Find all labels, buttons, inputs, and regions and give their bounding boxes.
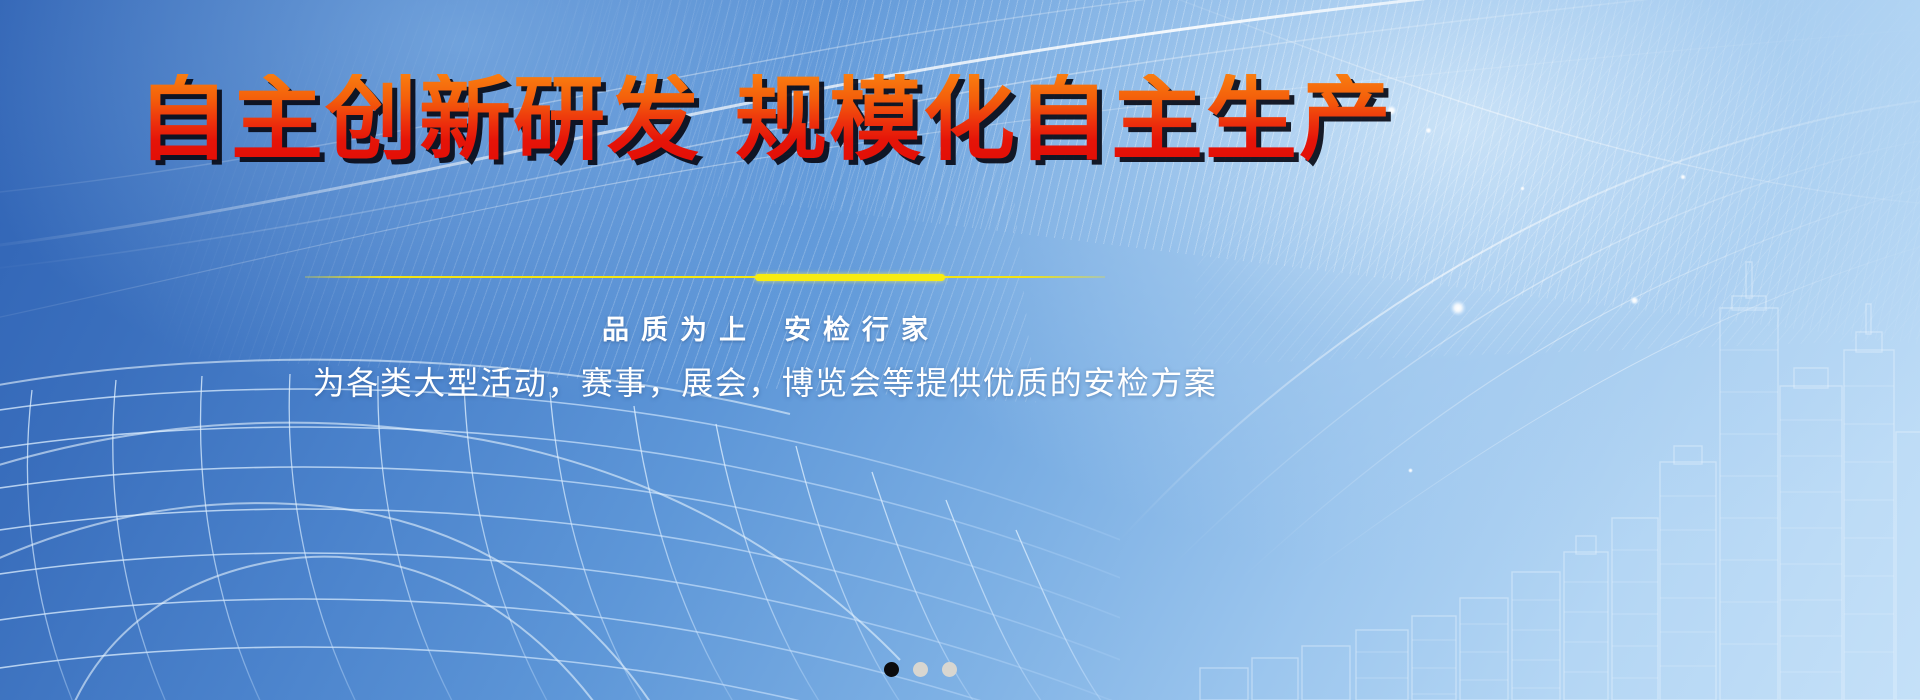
tagline-part-one: 品质为上	[602, 315, 758, 346]
banner-headline: 自主创新研发 规模化自主生产	[0, 74, 1530, 166]
carousel-indicators[interactable]	[0, 662, 1840, 677]
divider-highlight-bar	[755, 274, 945, 281]
carousel-dot-2[interactable]	[913, 662, 928, 677]
carousel-dot-3[interactable]	[942, 662, 957, 677]
yellow-divider	[305, 274, 1105, 280]
hero-banner-slide: 自主创新研发 规模化自主生产 品质为上安检行家 为各类大型活动，赛事，展会，博览…	[0, 0, 1920, 700]
banner-content: 自主创新研发 规模化自主生产 品质为上安检行家 为各类大型活动，赛事，展会，博览…	[0, 0, 1920, 700]
carousel-dot-1[interactable]	[884, 662, 899, 677]
banner-tagline: 品质为上安检行家	[0, 308, 1530, 347]
banner-subtitle: 为各类大型活动，赛事，展会，博览会等提供优质的安检方案	[0, 358, 1530, 404]
tagline-part-two: 安检行家	[784, 315, 940, 346]
divider-thin-line	[305, 276, 1105, 278]
